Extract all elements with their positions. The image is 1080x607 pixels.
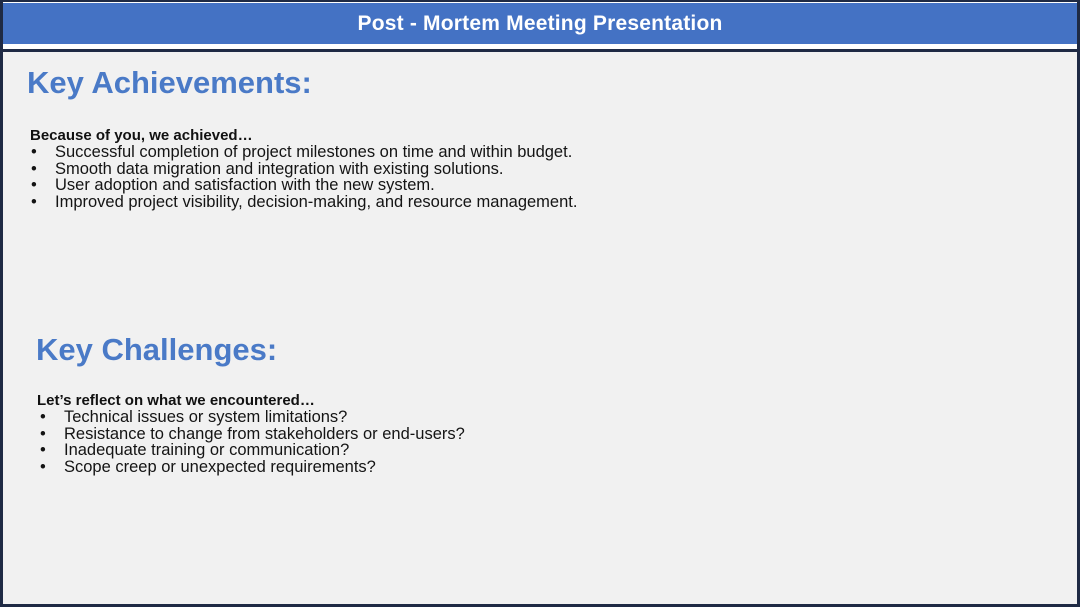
bullet-point-icon: •: [31, 161, 37, 178]
slide-content: Key Achievements: Because of you, we ach…: [3, 52, 1077, 604]
bullet-point-icon: •: [31, 194, 37, 211]
bullet-point-icon: •: [31, 144, 37, 161]
slide-title-bar: Post - Mortem Meeting Presentation: [3, 3, 1077, 44]
list-item-text: Improved project visibility, decision-ma…: [55, 193, 577, 211]
list-item: • Inadequate training or communication?: [36, 442, 1057, 459]
section-heading-challenges: Key Challenges:: [36, 333, 1057, 367]
bullet-point-icon: •: [40, 409, 46, 426]
list-item-text: Resistance to change from stakeholders o…: [64, 425, 465, 443]
section-key-achievements: Key Achievements: Because of you, we ach…: [27, 66, 1057, 210]
list-item: • Improved project visibility, decision-…: [27, 194, 1057, 211]
list-item-text: Scope creep or unexpected requirements?: [64, 458, 376, 476]
bullet-point-icon: •: [40, 426, 46, 443]
list-item-text: Successful completion of project milesto…: [55, 143, 572, 161]
list-item: • Resistance to change from stakeholders…: [36, 426, 1057, 443]
section-subheading-challenges: Let’s reflect on what we encountered…: [37, 392, 1057, 409]
list-item-text: Smooth data migration and integration wi…: [55, 160, 504, 178]
bullet-point-icon: •: [40, 442, 46, 459]
bullet-point-icon: •: [31, 177, 37, 194]
section-heading-achievements: Key Achievements:: [27, 66, 1057, 100]
presentation-slide: Post - Mortem Meeting Presentation Key A…: [0, 0, 1080, 607]
list-item: • Smooth data migration and integration …: [27, 161, 1057, 178]
list-item: • User adoption and satisfaction with th…: [27, 177, 1057, 194]
list-item: • Successful completion of project miles…: [27, 144, 1057, 161]
list-item-text: Technical issues or system limitations?: [64, 408, 347, 426]
challenges-bullet-list: • Technical issues or system limitations…: [36, 409, 1057, 475]
list-item: • Scope creep or unexpected requirements…: [36, 459, 1057, 476]
achievements-bullet-list: • Successful completion of project miles…: [27, 144, 1057, 210]
slide-title: Post - Mortem Meeting Presentation: [357, 13, 722, 34]
bullet-point-icon: •: [40, 459, 46, 476]
list-item-text: User adoption and satisfaction with the …: [55, 176, 435, 194]
list-item: • Technical issues or system limitations…: [36, 409, 1057, 426]
section-key-challenges: Key Challenges: Let’s reflect on what we…: [36, 333, 1057, 475]
list-item-text: Inadequate training or communication?: [64, 441, 349, 459]
section-subheading-achievements: Because of you, we achieved…: [30, 127, 1057, 144]
